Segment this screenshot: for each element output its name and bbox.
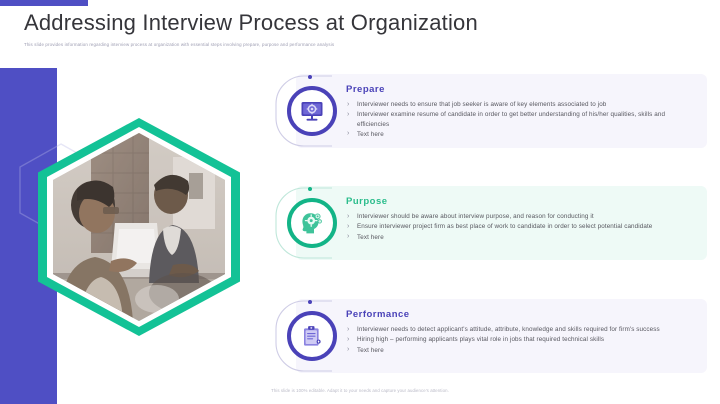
step-card-prepare[interactable]: Prepare Interviewer needs to ensure that…	[274, 74, 707, 148]
step-title: Performance	[346, 309, 697, 320]
bullet-item: Hiring high – performing applicants play…	[346, 335, 697, 344]
step-bullet-list: Interviewer needs to ensure that job see…	[346, 100, 697, 139]
slide-canvas: Addressing Interview Process at Organiza…	[0, 0, 720, 404]
bullet-item: Text here	[346, 130, 697, 139]
step-body: Purpose Interviewer should be aware abou…	[346, 196, 697, 243]
step-title: Prepare	[346, 84, 697, 95]
step-bullet-list: Interviewer should be aware about interv…	[346, 212, 697, 242]
bullet-item: Ensure interviewer project firm as best …	[346, 222, 697, 231]
step-bullet-list: Interviewer needs to detect applicant's …	[346, 325, 697, 355]
monitor-gear-icon[interactable]	[287, 86, 337, 136]
bullet-item: Interviewer should be aware about interv…	[346, 212, 697, 221]
bullet-item: Text here	[346, 233, 697, 242]
step-body: Performance Interviewer needs to detect …	[346, 309, 697, 356]
step-marker-dot	[308, 187, 312, 191]
head-gears-icon[interactable]	[287, 198, 337, 248]
page-title: Addressing Interview Process at Organiza…	[24, 10, 684, 36]
hero-image-hexagon	[38, 118, 240, 336]
bullet-item: Interviewer needs to ensure that job see…	[346, 100, 697, 109]
step-title: Purpose	[346, 196, 697, 207]
bullet-item: Interviewer examine resume of candidate …	[346, 110, 697, 129]
step-marker-dot	[308, 75, 312, 79]
bullet-item: Text here	[346, 346, 697, 355]
step-body: Prepare Interviewer needs to ensure that…	[346, 84, 697, 140]
page-subtitle: This slide provides information regardin…	[24, 42, 684, 48]
top-accent-bar	[0, 0, 88, 6]
bullet-item: Interviewer needs to detect applicant's …	[346, 325, 697, 334]
clipboard-icon[interactable]	[287, 311, 337, 361]
slide-footer-note: This slide is 100% editable. Adapt it to…	[0, 388, 720, 394]
step-card-performance[interactable]: Performance Interviewer needs to detect …	[274, 299, 707, 373]
slide-header: Addressing Interview Process at Organiza…	[24, 10, 684, 48]
step-card-purpose[interactable]: Purpose Interviewer should be aware abou…	[274, 186, 707, 260]
step-marker-dot	[308, 300, 312, 304]
